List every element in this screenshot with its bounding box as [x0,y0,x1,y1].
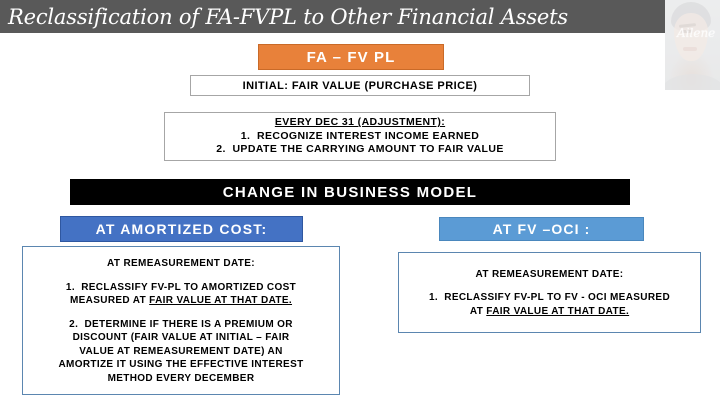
annual-adjustment-box: EVERY DEC 31 (ADJUSTMENT): 1. RECOGNIZE … [164,112,556,161]
fa-fvpl-heading-box: FA – FV PL [258,44,444,70]
webcam-thumbnail[interactable]: Ailene [665,0,720,90]
fvoci-remeasurement-heading: AT REMEASUREMENT DATE: [405,268,694,282]
amortized-item1-line2-underlined: FAIR VALUE AT THAT DATE. [149,295,292,306]
slide-canvas: Reclassification of FA-FVPL to Other Fin… [0,0,720,405]
amortized-item2-line1: 2. DETERMINE IF THERE IS A PREMIUM OR [29,318,333,332]
fvoci-item1-line2-prefix: AT [470,306,486,317]
amortized-item2-line2: DISCOUNT (FAIR VALUE AT INITIAL – FAIR [29,331,333,345]
change-in-business-model-banner: CHANGE IN BUSINESS MODEL [70,179,630,205]
signature-watermark: Ailene [677,26,715,40]
amortized-item1-line1: 1. RECLASSIFY FV-PL TO AMORTIZED COST [29,281,333,295]
page-title: Reclassification of FA-FVPL to Other Fin… [8,2,658,32]
at-amortized-cost-label: AT AMORTIZED COST: [96,221,268,237]
annual-adjustment-item-1: 1. RECOGNIZE INTEREST INCOME EARNED [173,130,547,144]
amortized-item2-line3: VALUE AT REMEASUREMENT DATE) AN [29,345,333,359]
fv-oci-detail-box: AT REMEASUREMENT DATE: 1. RECLASSIFY FV-… [398,252,701,333]
at-amortized-cost-heading-box: AT AMORTIZED COST: [60,216,303,242]
change-in-business-model-label: CHANGE IN BUSINESS MODEL [223,184,478,201]
annual-adjustment-heading: EVERY DEC 31 (ADJUSTMENT): [173,116,547,130]
amortized-item1-line2-prefix: MEASURED AT [70,295,149,306]
amortized-item2-line5: METHOD EVERY DECEMBER [29,372,333,386]
fvoci-item1-line1: 1. RECLASSIFY FV-PL TO FV - OCI MEASURED [405,291,694,305]
fvoci-item1-line2-underlined: FAIR VALUE AT THAT DATE. [486,306,629,317]
amortized-item2-line4: AMORTIZE IT USING THE EFFECTIVE INTEREST [29,358,333,372]
amortized-remeasurement-heading: AT REMEASUREMENT DATE: [29,257,333,271]
fvoci-item1-line2: AT FAIR VALUE AT THAT DATE. [405,305,694,319]
at-fv-oci-heading-box: AT FV –OCI : [439,217,644,241]
amortized-cost-detail-box: AT REMEASUREMENT DATE: 1. RECLASSIFY FV-… [22,246,340,395]
at-fv-oci-label: AT FV –OCI : [493,221,591,237]
initial-measurement-box: INITIAL: FAIR VALUE (PURCHASE PRICE) [190,75,530,96]
annual-adjustment-item-2: 2. UPDATE THE CARRYING AMOUNT TO FAIR VA… [173,143,547,157]
webcam-fade-overlay [665,0,720,90]
fa-fvpl-heading-label: FA – FV PL [307,49,396,66]
initial-measurement-label: INITIAL: FAIR VALUE (PURCHASE PRICE) [243,80,478,92]
amortized-item1-line2: MEASURED AT FAIR VALUE AT THAT DATE. [29,294,333,308]
